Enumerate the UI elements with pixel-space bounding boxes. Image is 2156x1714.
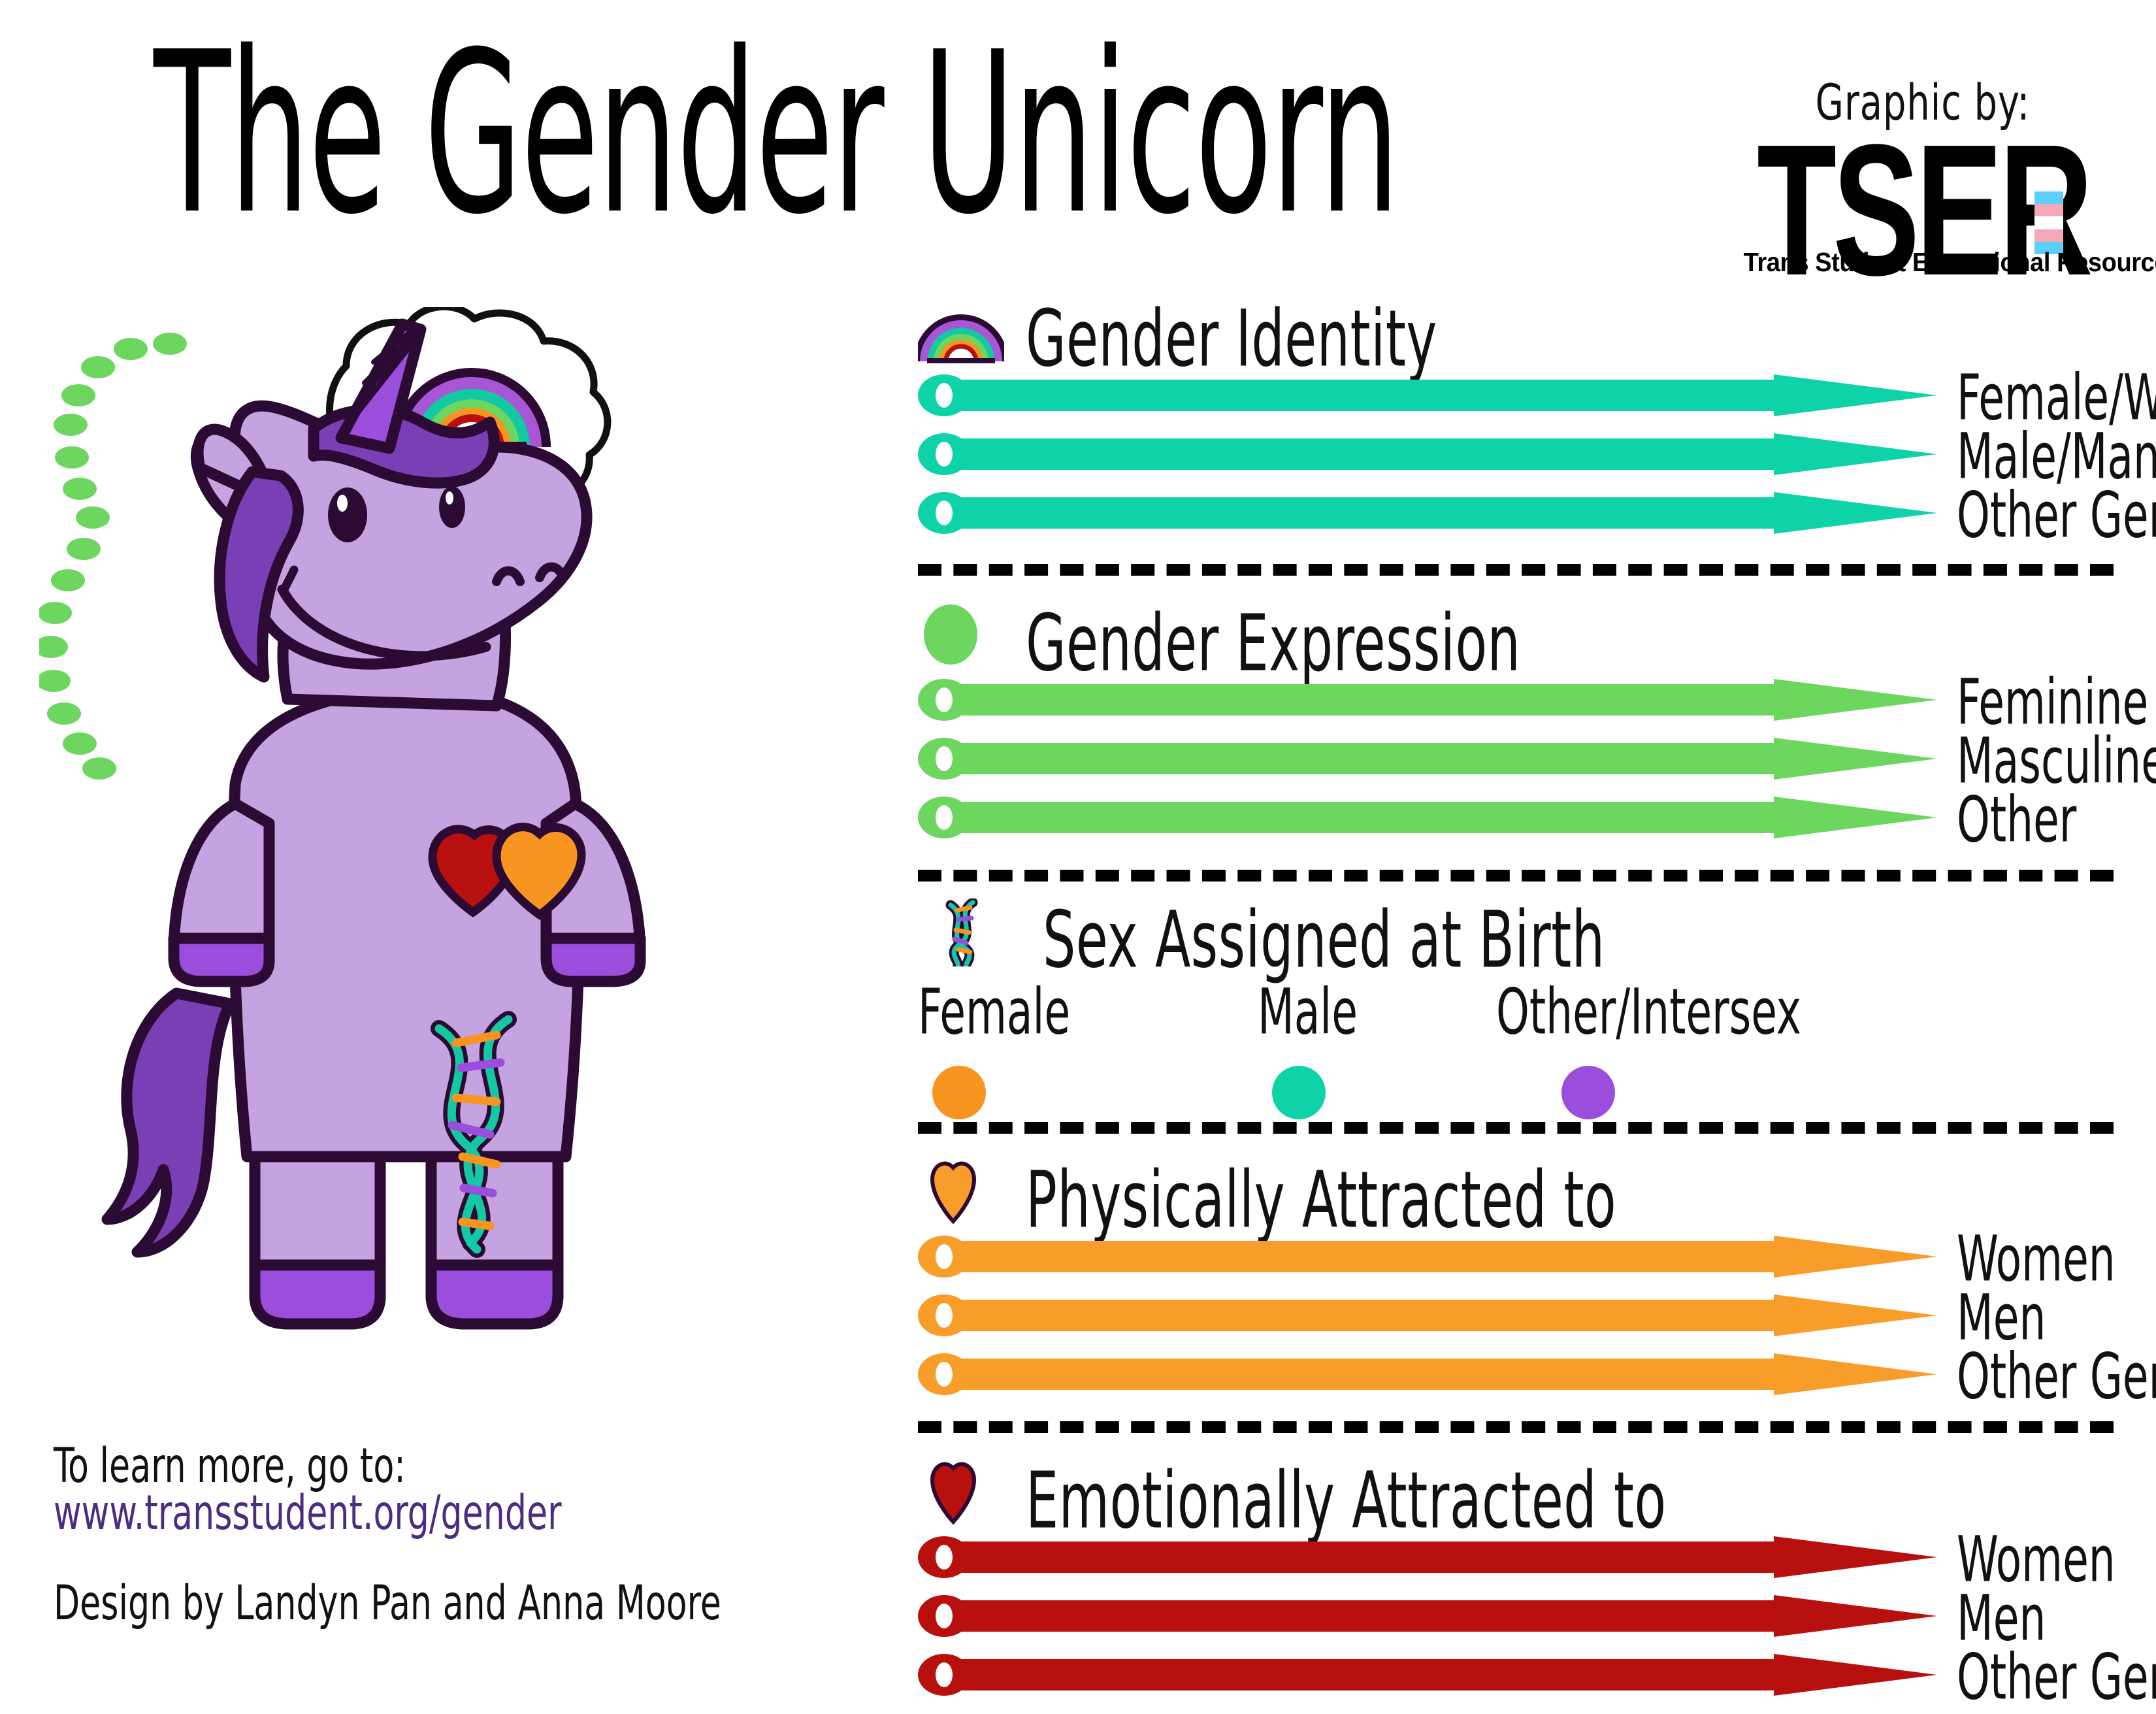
spectrum-arrow[interactable] (918, 1595, 1937, 1637)
unicorn-tail (107, 993, 230, 1252)
section-physically-attracted-to: Physically Attracted to Women (918, 1159, 2123, 1395)
hoof-left (255, 1265, 380, 1324)
section-sex-assigned-at-birth: Sex Assigned at Birth Female Male Other/… (918, 898, 2123, 1132)
red-heart-icon (918, 1459, 1004, 1527)
arrow-label: Other (1957, 783, 2076, 857)
website-url[interactable]: www.transstudent.org/gender (54, 1485, 562, 1541)
sab-dot (1272, 1066, 1326, 1119)
spectrum-arrow[interactable] (918, 374, 1937, 416)
dna-icon (935, 898, 1021, 966)
section-header: Physically Attracted to (918, 1159, 2123, 1236)
spectrum-arrow[interactable] (918, 797, 1937, 838)
spectrum-arrow[interactable] (918, 1294, 1937, 1336)
arrow-row: Other Gender(s) (918, 1654, 2123, 1696)
section-gender-identity: Gender Identity Female/Woman/Girl (918, 297, 2123, 534)
arrow-row: Other (918, 797, 2123, 838)
spectrum-arrow[interactable] (918, 1353, 1937, 1395)
section-title: Gender Identity (1026, 293, 1437, 384)
arrow-label: Other Gender(s) (1957, 479, 2156, 552)
sab-dot (1561, 1066, 1615, 1119)
circle-icon (918, 602, 1004, 670)
arrow-rows: Feminine Masculine (918, 679, 2123, 838)
spectrum-arrow[interactable] (918, 433, 1937, 475)
green-dot-arc (39, 333, 187, 780)
hoof-right (431, 1265, 558, 1324)
sab-dot (932, 1066, 986, 1119)
tser-logo: Graphic by: TSER Trans Student Education… (1730, 73, 2115, 278)
section-header: Gender Identity (918, 297, 2123, 374)
section-title: Physically Attracted to (1026, 1155, 1616, 1245)
arrow-row: Women (918, 1236, 2123, 1277)
spectrum-arrow[interactable] (918, 1654, 1937, 1696)
page-title: The Gender Unicorn (154, 23, 1399, 246)
arrow-row: Other Gender(s) (918, 1353, 2123, 1395)
sab-item-female[interactable]: Female (918, 976, 1075, 1119)
sab-label: Other/Intersex (1496, 976, 1801, 1049)
spectrum-arrow[interactable] (918, 1536, 1937, 1578)
section-divider (918, 870, 2114, 882)
arrow-rows: Female/Woman/Girl Male/Man/Boy (918, 374, 2123, 534)
arrow-row: Male/Man/Boy (918, 433, 2123, 475)
section-emotionally-attracted-to: Emotionally Attracted to Women (918, 1459, 2123, 1696)
arrow-rows: Women Men (918, 1236, 2123, 1395)
sab-label: Female (918, 976, 1070, 1049)
arrow-row: Other Gender(s) (918, 492, 2123, 534)
arrow-row: Men (918, 1294, 2123, 1336)
arrow-label: Other Gender(s) (1957, 1340, 2156, 1413)
arrow-row: Female/Woman/Girl (918, 374, 2123, 416)
spectrum-arrow[interactable] (918, 1236, 1937, 1277)
section-gender-expression: Gender Expression Feminine (918, 602, 2123, 838)
sab-dot-columns: Female Male Other/Intersex (918, 976, 2123, 1132)
arrow-rows: Women Men (918, 1536, 2123, 1696)
trans-flag-icon (2034, 191, 2063, 254)
section-header: Emotionally Attracted to (918, 1459, 2123, 1536)
section-header: Gender Expression (918, 602, 2123, 679)
arrow-row: Feminine (918, 679, 2123, 721)
section-divider (918, 564, 2114, 576)
infographic-canvas: The Gender Unicorn Graphic by: TSER Tran… (0, 0, 2156, 1666)
arrow-label: Other Gender(s) (1957, 1641, 2156, 1714)
spectrum-arrow[interactable] (918, 679, 1937, 721)
sab-item-male[interactable]: Male (1258, 976, 1361, 1119)
design-credit: Design by Landyn Pan and Anna Moore (54, 1575, 721, 1631)
arrow-row: Women (918, 1536, 2123, 1578)
rainbow-icon (918, 297, 1004, 365)
section-title: Sex Assigned at Birth (1043, 895, 1605, 985)
arrow-row: Masculine (918, 738, 2123, 780)
sab-label: Male (1258, 976, 1358, 1049)
section-title: Gender Expression (1026, 598, 1520, 689)
section-divider (918, 1421, 2114, 1433)
section-header: Sex Assigned at Birth (935, 898, 2123, 976)
spectrum-arrow[interactable] (918, 738, 1937, 780)
tser-acronym-wrap: TSER (1760, 131, 2086, 240)
section-title: Emotionally Attracted to (1026, 1455, 1667, 1546)
arrow-row: Men (918, 1595, 2123, 1637)
tser-expansion: Trans Student Educational Resources (1744, 247, 2102, 278)
unicorn-torso (233, 690, 580, 1157)
spectrum-arrow[interactable] (918, 492, 1937, 534)
unicorn-illustration (39, 307, 882, 1366)
sections-column: Gender Identity Female/Woman/Girl (918, 297, 2123, 1696)
sab-item-other-intersex[interactable]: Other/Intersex (1496, 976, 1810, 1119)
orange-heart-icon (918, 1159, 1004, 1227)
